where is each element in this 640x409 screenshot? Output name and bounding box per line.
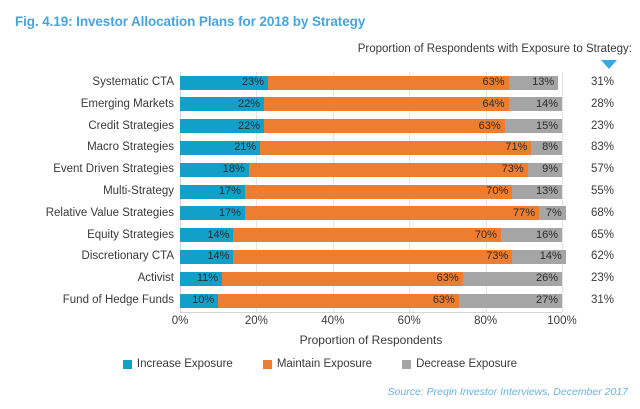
bar-segment-maintain: 71%: [260, 141, 531, 155]
category-label: Emerging Markets: [0, 94, 174, 116]
bar-segment-label: 63%: [482, 77, 504, 88]
bar-track: 11%63%26%: [180, 272, 562, 286]
bar-row: 17%77%7%: [180, 203, 562, 225]
bar-segment-increase: 14%: [180, 250, 233, 264]
category-label: Relative Value Strategies: [0, 203, 174, 225]
bar-segment-label: 7%: [546, 208, 562, 219]
legend-item-increase[interactable]: Increase Exposure: [123, 358, 233, 370]
category-label: Event Driven Strategies: [0, 159, 174, 181]
x-axis-tick-labels: 0%20%40%60%80%100%: [180, 315, 562, 331]
x-axis-line: [180, 312, 562, 313]
bar-segment-label: 17%: [219, 208, 241, 219]
category-label: Multi-Strategy: [0, 181, 174, 203]
exposure-value: 23%: [572, 268, 614, 290]
exposure-value: 65%: [572, 225, 614, 247]
bar-segment-increase: 11%: [180, 272, 222, 286]
bar-row: 18%73%9%: [180, 159, 562, 181]
category-label: Macro Strategies: [0, 137, 174, 159]
bar-segment-maintain: 70%: [245, 185, 512, 199]
exposure-column-header: Proportion of Respondents with Exposure …: [358, 43, 632, 55]
bar-segment-increase: 10%: [180, 294, 218, 308]
bar-segment-label: 14%: [207, 251, 229, 262]
bar-segment-label: 26%: [536, 273, 558, 284]
legend-item-decrease[interactable]: Decrease Exposure: [402, 358, 517, 370]
bar-segment-label: 70%: [475, 230, 497, 241]
bar-row: 14%70%16%: [180, 225, 562, 247]
category-label: Credit Strategies: [0, 116, 174, 138]
bar-segment-label: 14%: [536, 99, 558, 110]
x-tick-label: 40%: [321, 315, 344, 327]
bar-segment-label: 8%: [542, 142, 558, 153]
exposure-value: 55%: [572, 181, 614, 203]
bar-segment-label: 71%: [505, 142, 527, 153]
category-axis-labels: Systematic CTAEmerging MarketsCredit Str…: [0, 72, 174, 312]
bar-segment-decrease: 14%: [509, 97, 562, 111]
bar-segment-maintain: 63%: [268, 76, 509, 90]
legend-swatch-icon: [123, 360, 132, 369]
bar-track: 17%77%7%: [180, 206, 562, 220]
bar-segment-label: 27%: [536, 295, 558, 306]
bar-track: 23%63%13%: [180, 76, 562, 90]
bar-segment-maintain: 63%: [222, 272, 463, 286]
bar-segment-maintain: 73%: [249, 163, 528, 177]
bar-segment-increase: 22%: [180, 97, 264, 111]
bar-segment-decrease: 26%: [463, 272, 562, 286]
bar-row: 22%64%14%: [180, 94, 562, 116]
x-tick-label: 60%: [398, 315, 421, 327]
bar-row: 23%63%13%: [180, 72, 562, 94]
x-tick-label: 0%: [172, 315, 189, 327]
category-label: Equity Strategies: [0, 225, 174, 247]
x-axis-title: Proportion of Respondents: [180, 333, 562, 347]
bar-segment-maintain: 73%: [233, 250, 512, 264]
chart-legend: Increase ExposureMaintain ExposureDecrea…: [0, 358, 640, 370]
bar-segment-label: 73%: [486, 251, 508, 262]
bar-track: 17%70%13%: [180, 185, 562, 199]
bar-segment-label: 64%: [482, 99, 504, 110]
bar-segment-label: 22%: [238, 121, 260, 132]
bar-segment-label: 14%: [540, 251, 562, 262]
exposure-value: 83%: [572, 137, 614, 159]
bar-track: 18%73%9%: [180, 163, 562, 177]
bar-segment-maintain: 77%: [245, 206, 539, 220]
bar-segment-label: 22%: [238, 99, 260, 110]
bar-segment-label: 63%: [433, 295, 455, 306]
legend-swatch-icon: [263, 360, 272, 369]
bar-row: 10%63%27%: [180, 290, 562, 312]
category-label: Systematic CTA: [0, 72, 174, 94]
chart-plot-area: 23%63%13%22%64%14%22%63%15%21%71%8%18%73…: [180, 72, 562, 312]
category-label: Activist: [0, 268, 174, 290]
stacked-bar-rows: 23%63%13%22%64%14%22%63%15%21%71%8%18%73…: [180, 72, 562, 312]
bar-segment-increase: 17%: [180, 185, 245, 199]
bar-segment-maintain: 63%: [218, 294, 459, 308]
exposure-value: 23%: [572, 116, 614, 138]
bar-segment-maintain: 64%: [264, 97, 508, 111]
bar-segment-increase: 17%: [180, 206, 245, 220]
bar-segment-label: 70%: [486, 186, 508, 197]
exposure-value: 68%: [572, 203, 614, 225]
legend-label: Maintain Exposure: [277, 358, 372, 370]
bar-segment-decrease: 9%: [528, 163, 562, 177]
bar-segment-increase: 21%: [180, 141, 260, 155]
bar-track: 14%70%16%: [180, 228, 562, 242]
legend-label: Decrease Exposure: [416, 358, 517, 370]
bar-segment-label: 11%: [197, 273, 218, 284]
bar-segment-maintain: 70%: [233, 228, 500, 242]
bar-segment-label: 10%: [192, 295, 214, 306]
bar-segment-decrease: 8%: [531, 141, 562, 155]
bar-segment-increase: 14%: [180, 228, 233, 242]
exposure-value-column: 31%28%23%83%57%55%68%65%62%23%31%: [572, 72, 632, 312]
category-label: Fund of Hedge Funds: [0, 290, 174, 312]
bar-segment-decrease: 13%: [509, 76, 559, 90]
bar-segment-maintain: 63%: [264, 119, 505, 133]
bar-segment-decrease: 16%: [501, 228, 562, 242]
gridline: [562, 72, 563, 312]
bar-row: 11%63%26%: [180, 268, 562, 290]
bar-track: 22%63%15%: [180, 119, 562, 133]
bar-segment-label: 9%: [542, 164, 558, 175]
bar-segment-label: 73%: [502, 164, 524, 175]
bar-segment-label: 21%: [234, 142, 256, 153]
bar-track: 21%71%8%: [180, 141, 562, 155]
figure-title: Fig. 4.19: Investor Allocation Plans for…: [15, 14, 365, 29]
bar-track: 10%63%27%: [180, 294, 562, 308]
x-tick-label: 20%: [245, 315, 268, 327]
bar-segment-label: 15%: [536, 121, 558, 132]
bar-segment-label: 18%: [223, 164, 245, 175]
bar-segment-decrease: 13%: [512, 185, 562, 199]
bar-segment-label: 17%: [219, 186, 241, 197]
bar-segment-label: 23%: [242, 77, 264, 88]
bar-segment-decrease: 7%: [539, 206, 566, 220]
bar-segment-label: 14%: [207, 230, 229, 241]
exposure-value: 28%: [572, 94, 614, 116]
bar-segment-label: 16%: [536, 230, 558, 241]
bar-segment-increase: 18%: [180, 163, 249, 177]
legend-label: Increase Exposure: [137, 358, 233, 370]
bar-segment-increase: 23%: [180, 76, 268, 90]
legend-item-maintain[interactable]: Maintain Exposure: [263, 358, 372, 370]
chevron-down-icon: [601, 60, 617, 69]
bar-segment-decrease: 14%: [512, 250, 565, 264]
exposure-value: 57%: [572, 159, 614, 181]
bar-segment-decrease: 15%: [505, 119, 562, 133]
bar-row: 22%63%15%: [180, 116, 562, 138]
bar-segment-label: 13%: [532, 77, 554, 88]
bar-segment-decrease: 27%: [459, 294, 562, 308]
bar-segment-label: 63%: [479, 121, 501, 132]
x-tick-label: 100%: [547, 315, 576, 327]
bar-segment-label: 63%: [437, 273, 459, 284]
bar-track: 14%73%14%: [180, 250, 562, 264]
bar-segment-increase: 22%: [180, 119, 264, 133]
exposure-value: 31%: [572, 72, 614, 94]
x-tick-label: 80%: [474, 315, 497, 327]
bar-track: 22%64%14%: [180, 97, 562, 111]
exposure-value: 62%: [572, 246, 614, 268]
category-label: Discretionary CTA: [0, 246, 174, 268]
bar-segment-label: 13%: [536, 186, 558, 197]
bar-row: 14%73%14%: [180, 246, 562, 268]
legend-swatch-icon: [402, 360, 411, 369]
exposure-value: 31%: [572, 290, 614, 312]
bar-row: 17%70%13%: [180, 181, 562, 203]
source-note: Source: Preqin Investor Interviews, Dece…: [388, 386, 628, 398]
bar-segment-label: 77%: [513, 208, 535, 219]
bar-row: 21%71%8%: [180, 137, 562, 159]
